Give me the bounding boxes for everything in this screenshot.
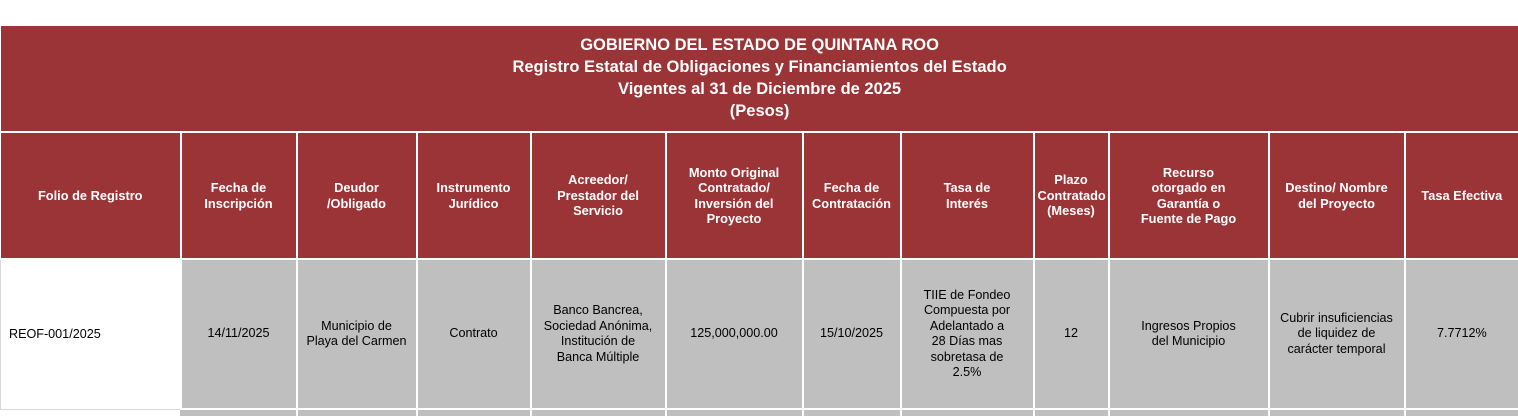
cell-text-line: Municipio de bbox=[302, 319, 412, 335]
title-line-4: (Pesos) bbox=[5, 100, 1514, 122]
header-text-line: Garantía o bbox=[1113, 196, 1265, 212]
header-text-line: (Meses) bbox=[1038, 203, 1105, 219]
header-text-line: Servicio bbox=[535, 203, 662, 219]
column-header-fecha_insc[interactable]: Fecha deInscripción bbox=[181, 132, 297, 259]
title-banner-row: GOBIERNO DEL ESTADO DE QUINTANA ROORegis… bbox=[1, 26, 1518, 132]
header-text-line: Contratado/ bbox=[670, 180, 799, 196]
header-text-line: Monto Original bbox=[670, 165, 799, 181]
header-text-line: Proyecto bbox=[670, 211, 799, 227]
column-header-acreedor[interactable]: Acreedor/Prestador delServicio bbox=[531, 132, 666, 259]
header-text-line: Prestador del bbox=[535, 188, 662, 204]
cell-text-line: 2.5% bbox=[906, 365, 1029, 381]
header-text-line: Contratado bbox=[1038, 188, 1105, 204]
cell-text-line: Banco Bancrea, bbox=[536, 303, 661, 319]
column-header-destino[interactable]: Destino/ Nombredel Proyecto bbox=[1269, 132, 1405, 259]
header-text-line: Deudor bbox=[301, 180, 413, 196]
header-text-line: Destino/ Nombre bbox=[1273, 180, 1401, 196]
header-text-line: /Obligado bbox=[301, 196, 413, 212]
header-text-line: Plazo bbox=[1038, 172, 1105, 188]
cell-text-line: Compuesta por bbox=[906, 303, 1029, 319]
header-text-line: Recurso bbox=[1113, 165, 1265, 181]
header-text-line: Tasa de bbox=[905, 180, 1030, 196]
cell-text-line: Adelantado a bbox=[906, 319, 1029, 335]
header-text-line: Tasa Efectiva bbox=[1409, 188, 1516, 204]
next-row-partial bbox=[180, 410, 1518, 416]
column-header-instrumento[interactable]: InstrumentoJurídico bbox=[417, 132, 531, 259]
cell-text-line: 15/10/2025 bbox=[808, 326, 896, 342]
cell-plazo[interactable]: 12 bbox=[1034, 259, 1109, 409]
title-line-2: Registro Estatal de Obligaciones y Finan… bbox=[5, 56, 1514, 78]
cell-folio[interactable]: REOF-001/2025 bbox=[1, 259, 181, 409]
header-text-line: Inscripción bbox=[185, 196, 293, 212]
column-header-tasa[interactable]: Tasa deInterés bbox=[901, 132, 1034, 259]
cell-text-line: 28 Días mas bbox=[906, 334, 1029, 350]
cell-text-line: Contrato bbox=[422, 326, 526, 342]
cell-monto[interactable]: 125,000,000.00 bbox=[666, 259, 803, 409]
cell-text-line: del Municipio bbox=[1114, 334, 1264, 350]
cell-text-line: de liquidez de bbox=[1274, 326, 1400, 342]
cell-text-line: 12 bbox=[1039, 326, 1104, 342]
cell-text-line: Ingresos Propios bbox=[1114, 319, 1264, 335]
header-text-line: Jurídico bbox=[421, 196, 527, 212]
header-text-line: otorgado en bbox=[1113, 180, 1265, 196]
cell-text-line: 14/11/2025 bbox=[186, 326, 292, 342]
header-text-line: Contratación bbox=[807, 196, 897, 212]
column-header-folio[interactable]: Folio de Registro bbox=[1, 132, 181, 259]
table-row: REOF-001/202514/11/2025Municipio dePlaya… bbox=[1, 259, 1518, 409]
header-text-line: Interés bbox=[905, 196, 1030, 212]
header-text-line: Inversión del bbox=[670, 196, 799, 212]
cell-text-line: 125,000,000.00 bbox=[671, 326, 798, 342]
column-header-fecha_contr[interactable]: Fecha deContratación bbox=[803, 132, 901, 259]
header-text-line: Acreedor/ bbox=[535, 172, 662, 188]
cell-deudor[interactable]: Municipio dePlaya del Carmen bbox=[297, 259, 417, 409]
cell-text-line: carácter temporal bbox=[1274, 342, 1400, 358]
header-text-line: Folio de Registro bbox=[4, 188, 177, 204]
column-header-plazo[interactable]: PlazoContratado(Meses) bbox=[1034, 132, 1109, 259]
cell-text-line: Cubrir insuficiencias bbox=[1274, 311, 1400, 327]
header-text-line: del Proyecto bbox=[1273, 196, 1401, 212]
header-text-line: Fuente de Pago bbox=[1113, 211, 1265, 227]
cell-fecha_insc[interactable]: 14/11/2025 bbox=[181, 259, 297, 409]
cell-tasa[interactable]: TIIE de FondeoCompuesta porAdelantado a2… bbox=[901, 259, 1034, 409]
cell-text-line: TIIE de Fondeo bbox=[906, 288, 1029, 304]
cell-acreedor[interactable]: Banco Bancrea,Sociedad Anónima,Instituci… bbox=[531, 259, 666, 409]
column-header-tasa_efect[interactable]: Tasa Efectiva bbox=[1405, 132, 1518, 259]
column-header-monto[interactable]: Monto OriginalContratado/Inversión delPr… bbox=[666, 132, 803, 259]
cell-fecha_contr[interactable]: 15/10/2025 bbox=[803, 259, 901, 409]
obligations-registry-table: GOBIERNO DEL ESTADO DE QUINTANA ROORegis… bbox=[0, 26, 1518, 410]
column-header-deudor[interactable]: Deudor/Obligado bbox=[297, 132, 417, 259]
table-body: REOF-001/202514/11/2025Municipio dePlaya… bbox=[1, 259, 1518, 409]
spreadsheet-sheet: GOBIERNO DEL ESTADO DE QUINTANA ROORegis… bbox=[0, 0, 1518, 416]
cell-text-line: Playa del Carmen bbox=[302, 334, 412, 350]
cell-text-line: REOF-001/2025 bbox=[9, 327, 176, 343]
title-line-1: GOBIERNO DEL ESTADO DE QUINTANA ROO bbox=[5, 34, 1514, 56]
cell-tasa_efect[interactable]: 7.7712% bbox=[1405, 259, 1518, 409]
cell-destino[interactable]: Cubrir insuficienciasde liquidez decarác… bbox=[1269, 259, 1405, 409]
cell-text-line: sobretasa de bbox=[906, 350, 1029, 366]
title-line-3: Vigentes al 31 de Diciembre de 2025 bbox=[5, 78, 1514, 100]
cell-text-line: Sociedad Anónima, bbox=[536, 319, 661, 335]
cell-text-line: 7.7712% bbox=[1410, 326, 1515, 342]
document-title: GOBIERNO DEL ESTADO DE QUINTANA ROORegis… bbox=[1, 26, 1518, 132]
cell-text-line: Institución de bbox=[536, 334, 661, 350]
column-header-garantia[interactable]: Recursootorgado enGarantía oFuente de Pa… bbox=[1109, 132, 1269, 259]
cell-instrumento[interactable]: Contrato bbox=[417, 259, 531, 409]
cell-garantia[interactable]: Ingresos Propiosdel Municipio bbox=[1109, 259, 1269, 409]
header-text-line: Instrumento bbox=[421, 180, 527, 196]
cell-text-line: Banca Múltiple bbox=[536, 350, 661, 366]
header-text-line: Fecha de bbox=[185, 180, 293, 196]
header-text-line: Fecha de bbox=[807, 180, 897, 196]
table-header-row: Folio de RegistroFecha deInscripciónDeud… bbox=[1, 132, 1518, 259]
